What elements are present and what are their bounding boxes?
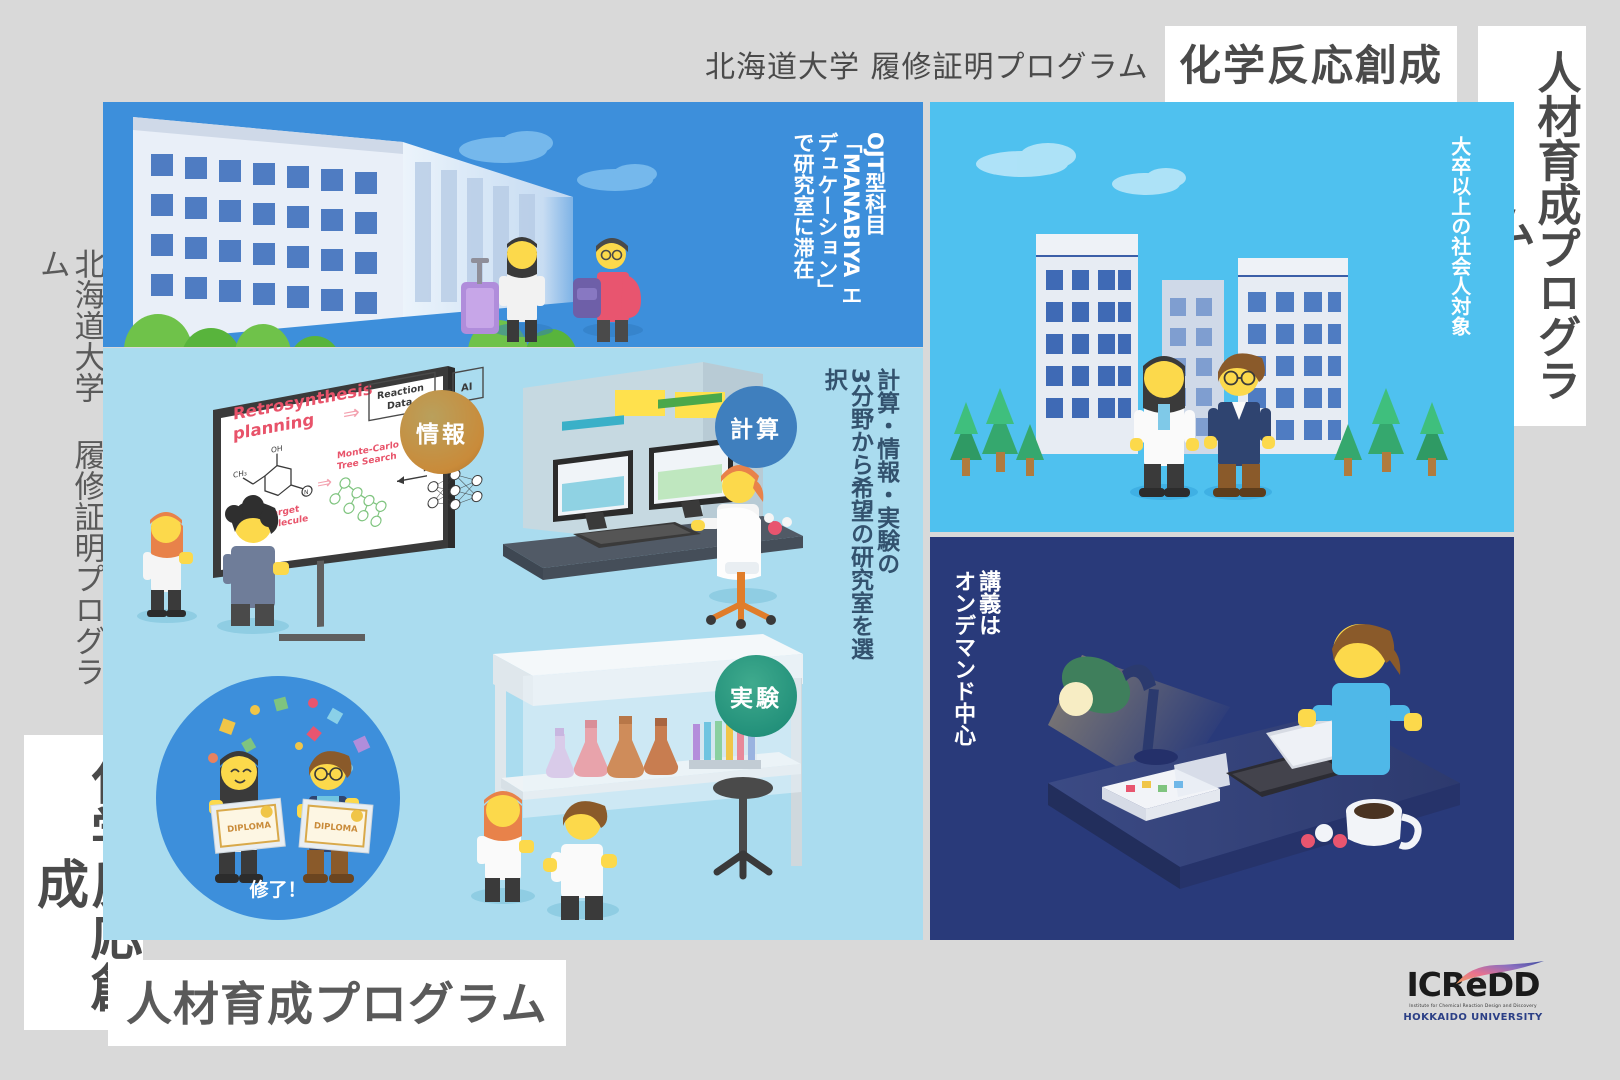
target-audience-illustration [930, 102, 1514, 532]
icredd-logo: ICReDD Institute for Chemical Reaction D… [1398, 968, 1548, 1023]
ojt-caption: OJT型科目 「MANABIYA エデュケーション」 で研究室に滞在 [790, 132, 886, 324]
whiteboard-arrow-1: ⇒ [343, 399, 360, 426]
ojt-caption-line3: で研究室に滞在 [791, 132, 815, 279]
badge-experiment: 実験 [715, 655, 797, 737]
ojt-caption-line1: OJT型科目 [863, 132, 887, 235]
completion-scene: DIPLOMA [156, 676, 400, 920]
completion-caption: 修了！ [248, 878, 306, 901]
fields-illustration: Retrosynthesis planning ⇒ Reaction Data … [103, 348, 923, 940]
header-program-tag: 化学反応創成 [1165, 26, 1457, 103]
page-title: 北海道大学 履修証明プログラム [705, 42, 1149, 86]
panel-three-fields: Retrosynthesis planning ⇒ Reaction Data … [103, 348, 923, 940]
fields-caption: 計算・情報・実験の 3分野から希望の研究室を選択 [820, 368, 899, 668]
fields-caption-line1: 計算・情報・実験の [873, 368, 899, 575]
logo-swoosh-icon [1454, 960, 1546, 986]
badge-computation: 計算 [715, 386, 797, 468]
panel-target-audience [930, 102, 1514, 532]
target-audience-caption: 大卒以上の社会人対象 [1448, 136, 1471, 348]
whiteboard-n: N [304, 489, 308, 497]
logo-subtitle-university: HOKKAIDO UNIVERSITY [1398, 1012, 1548, 1023]
lecture-caption-line1: 講義は [975, 570, 1000, 636]
lecture-illustration [930, 537, 1514, 940]
lecture-caption-line2: オンデマンド中心 [950, 570, 975, 746]
logo-subtitle-institute: Institute for Chemical Reaction Design a… [1398, 1004, 1548, 1009]
whiteboard-ai: AI [461, 381, 472, 394]
ojt-caption-line2: 「MANABIYA エデュケーション」 [815, 132, 863, 306]
fields-caption-line2: 3分野から希望の研究室を選択 [820, 368, 872, 660]
left-vertical-title: 北海道大学 履修証明プログラム [34, 248, 103, 708]
lecture-caption: 講義は オンデマンド中心 [950, 570, 1000, 770]
bottom-program-tag: 人材育成プログラム [108, 960, 566, 1046]
badge-information: 情報 [400, 390, 484, 474]
whiteboard-arrow-2: ⇒ [317, 472, 332, 496]
panel-ondemand-lecture [930, 537, 1514, 940]
